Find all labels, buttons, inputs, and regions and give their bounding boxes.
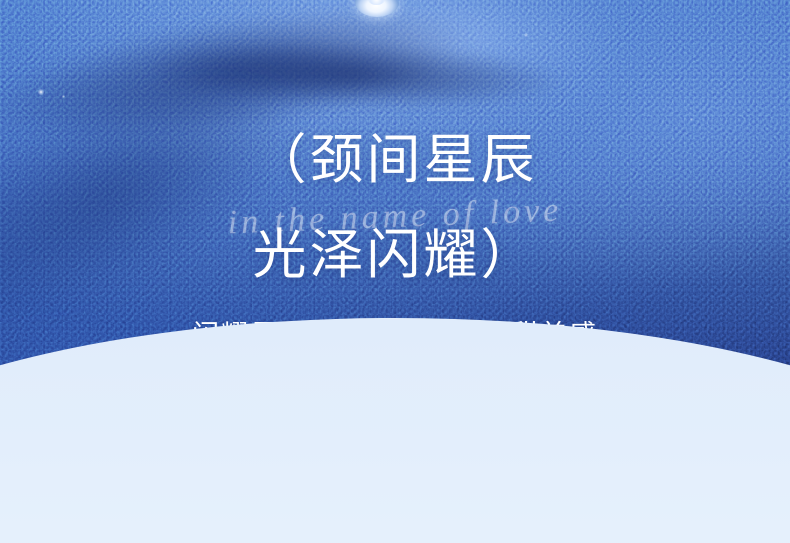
sparkle-icon	[38, 89, 44, 95]
sparkle-icon	[690, 118, 693, 121]
sparkle-icon	[524, 33, 528, 37]
sparkle-icon	[62, 95, 65, 98]
bottom-ellipse-curve	[0, 318, 790, 543]
headline-line-1: （颈间星辰	[0, 133, 790, 187]
headline-line-2: 光泽闪耀）	[0, 228, 790, 282]
product-banner: （颈间星辰 in the name of love 光泽闪耀） 闪耀星星造型，打…	[0, 0, 790, 543]
